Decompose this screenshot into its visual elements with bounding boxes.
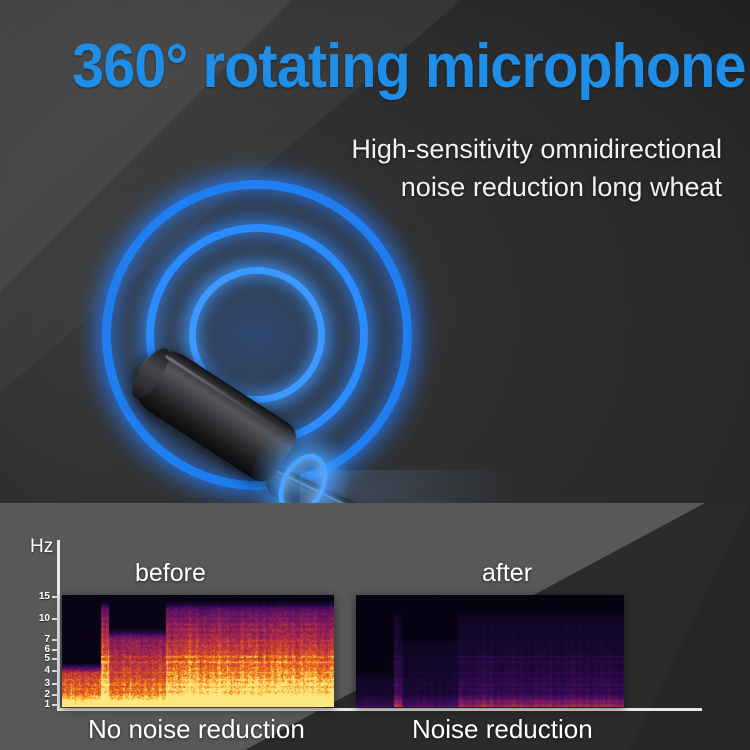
after-caption: Noise reduction	[412, 714, 593, 745]
before-caption: No noise reduction	[88, 714, 305, 745]
x-axis-line	[57, 708, 702, 711]
y-axis-unit-label: Hz	[30, 536, 53, 558]
spectrogram-before	[62, 595, 334, 707]
before-heading: before	[135, 559, 206, 588]
y-axis-tick: 4	[44, 666, 50, 676]
y-axis-tick: 1	[44, 700, 50, 710]
y-axis-tick: 3	[44, 679, 50, 689]
after-heading: after	[482, 559, 532, 588]
y-axis-tick: 15	[39, 592, 50, 602]
microphone-illustration	[0, 140, 750, 540]
y-axis-tick: 10	[39, 614, 50, 624]
page-title: 360° rotating microphone	[72, 36, 746, 98]
y-axis-ticks: 15107654321	[26, 592, 60, 710]
y-axis-tick: 5	[44, 654, 50, 664]
spectrogram-after	[356, 595, 624, 707]
product-poster: 360° rotating microphone High-sensitivit…	[0, 0, 750, 750]
